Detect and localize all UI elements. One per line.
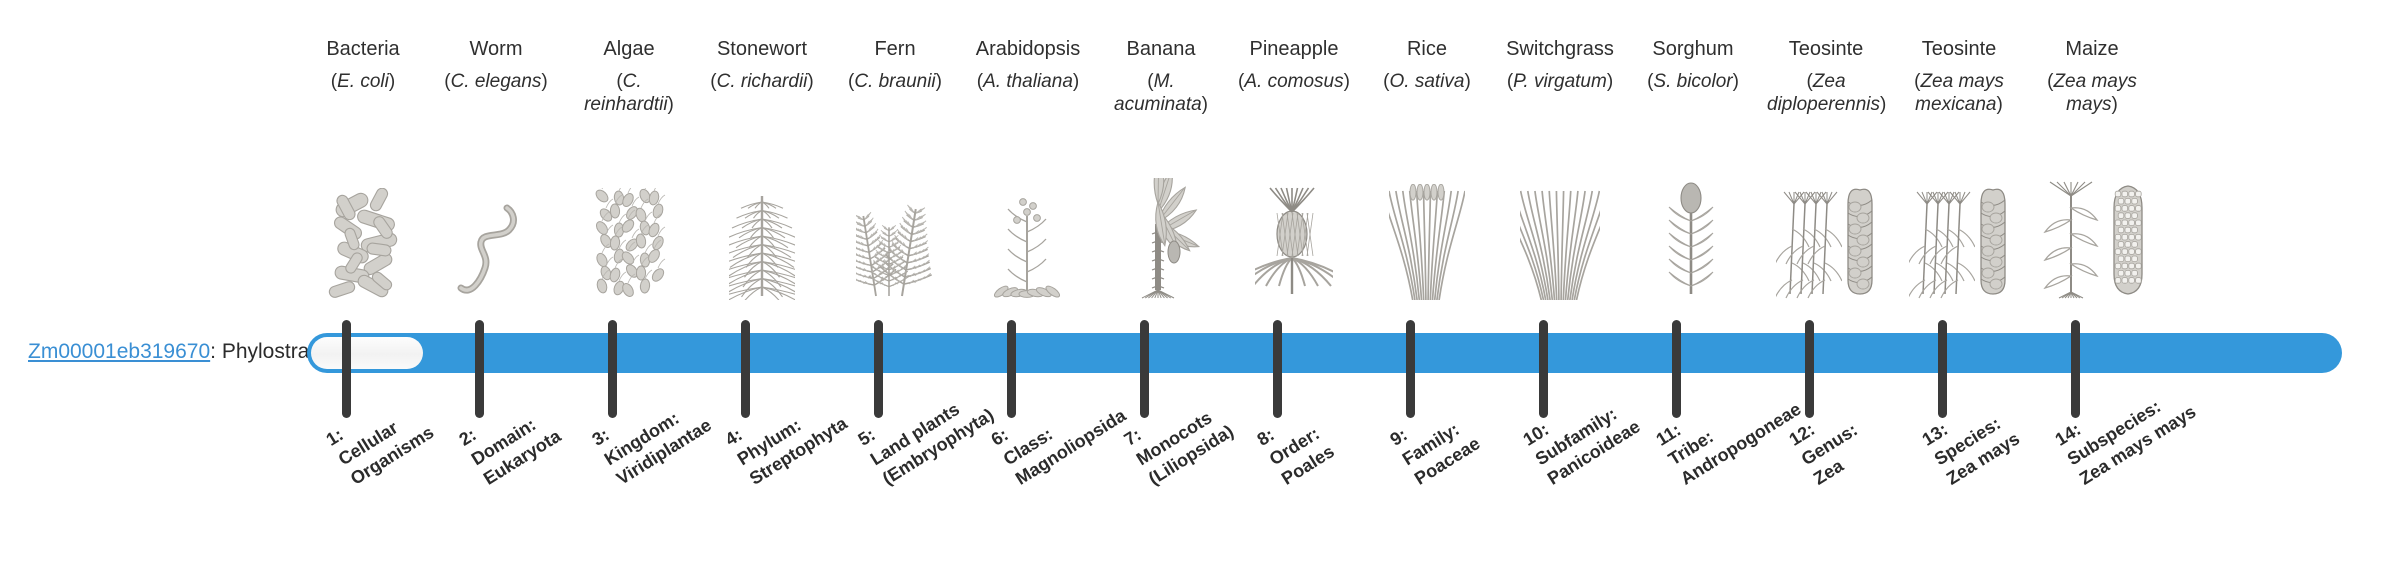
species-scientific-name: (E. coli) <box>304 70 422 93</box>
species-common-name: Fern <box>836 36 954 62</box>
species-column-3: Algae(C. reinhardtii) <box>570 36 688 116</box>
species-scientific-name: (M. acuminata) <box>1102 70 1220 116</box>
gene-phylostratum-label: Zm00001eb319670: Phylostratum 2 <box>28 338 300 366</box>
species-common-name: Switchgrass <box>1501 36 1619 62</box>
phylostratigraphy-diagram: Zm00001eb319670: Phylostratum 2 Bacteria… <box>0 0 2400 580</box>
species-scientific-name: (O. sativa) <box>1368 70 1486 93</box>
phylostratum-unfilled-segment <box>311 337 423 369</box>
banana-icon <box>1102 168 1220 300</box>
fern-icon <box>836 168 954 300</box>
species-scientific-name: (S. bicolor) <box>1634 70 1752 93</box>
species-common-name: Stonewort <box>703 36 821 62</box>
species-common-name: Teosinte <box>1900 36 2018 62</box>
teosinte-mexicana-icon <box>1900 168 2018 300</box>
stonewort-icon <box>703 168 821 300</box>
species-column-4: Stonewort(C. richardii) <box>703 36 821 93</box>
species-scientific-name: (P. virgatum) <box>1501 70 1619 93</box>
species-common-name: Algae <box>570 36 688 62</box>
species-scientific-name: (Zea mays mays) <box>2033 70 2151 116</box>
species-column-8: Pineapple(A. comosus) <box>1235 36 1353 93</box>
species-scientific-name: (C. braunii) <box>836 70 954 93</box>
worm-icon <box>437 168 555 300</box>
species-column-13: Teosinte(Zea mays mexicana) <box>1900 36 2018 116</box>
species-common-name: Arabidopsis <box>969 36 1087 62</box>
species-column-6: Arabidopsis(A. thaliana) <box>969 36 1087 93</box>
stratum-tick-1 <box>342 320 351 418</box>
species-column-10: Switchgrass(P. virgatum) <box>1501 36 1619 93</box>
species-common-name: Banana <box>1102 36 1220 62</box>
teosinte-diploperennis-icon <box>1767 168 1885 300</box>
species-common-name: Pineapple <box>1235 36 1353 62</box>
species-column-7: Banana(M. acuminata) <box>1102 36 1220 116</box>
bacteria-icon <box>304 168 422 300</box>
species-common-name: Sorghum <box>1634 36 1752 62</box>
species-column-5: Fern(C. braunii) <box>836 36 954 93</box>
species-column-12: Teosinte(Zea diploperennis) <box>1767 36 1885 116</box>
species-column-9: Rice(O. sativa) <box>1368 36 1486 93</box>
pineapple-icon <box>1235 168 1353 300</box>
algae-icon <box>570 168 688 300</box>
arabidopsis-icon <box>969 168 1087 300</box>
gene-id-link[interactable]: Zm00001eb319670 <box>28 340 210 363</box>
species-common-name: Bacteria <box>304 36 422 62</box>
species-scientific-name: (Zea mays mexicana) <box>1900 70 2018 116</box>
species-common-name: Worm <box>437 36 555 62</box>
species-common-name: Maize <box>2033 36 2151 62</box>
rice-icon <box>1368 168 1486 300</box>
species-column-2: Worm(C. elegans) <box>437 36 555 93</box>
species-scientific-name: (C. richardii) <box>703 70 821 93</box>
species-scientific-name: (A. comosus) <box>1235 70 1353 93</box>
species-scientific-name: (Zea diploperennis) <box>1767 70 1885 116</box>
species-scientific-name: (C. elegans) <box>437 70 555 93</box>
species-common-name: Rice <box>1368 36 1486 62</box>
sorghum-icon <box>1634 168 1752 300</box>
maize-icon <box>2033 168 2151 300</box>
species-scientific-name: (C. reinhardtii) <box>570 70 688 116</box>
species-scientific-name: (A. thaliana) <box>969 70 1087 93</box>
species-common-name: Teosinte <box>1767 36 1885 62</box>
species-column-14: Maize(Zea mays mays) <box>2033 36 2151 116</box>
switchgrass-icon <box>1501 168 1619 300</box>
species-column-1: Bacteria(E. coli) <box>304 36 422 93</box>
species-column-11: Sorghum(S. bicolor) <box>1634 36 1752 93</box>
